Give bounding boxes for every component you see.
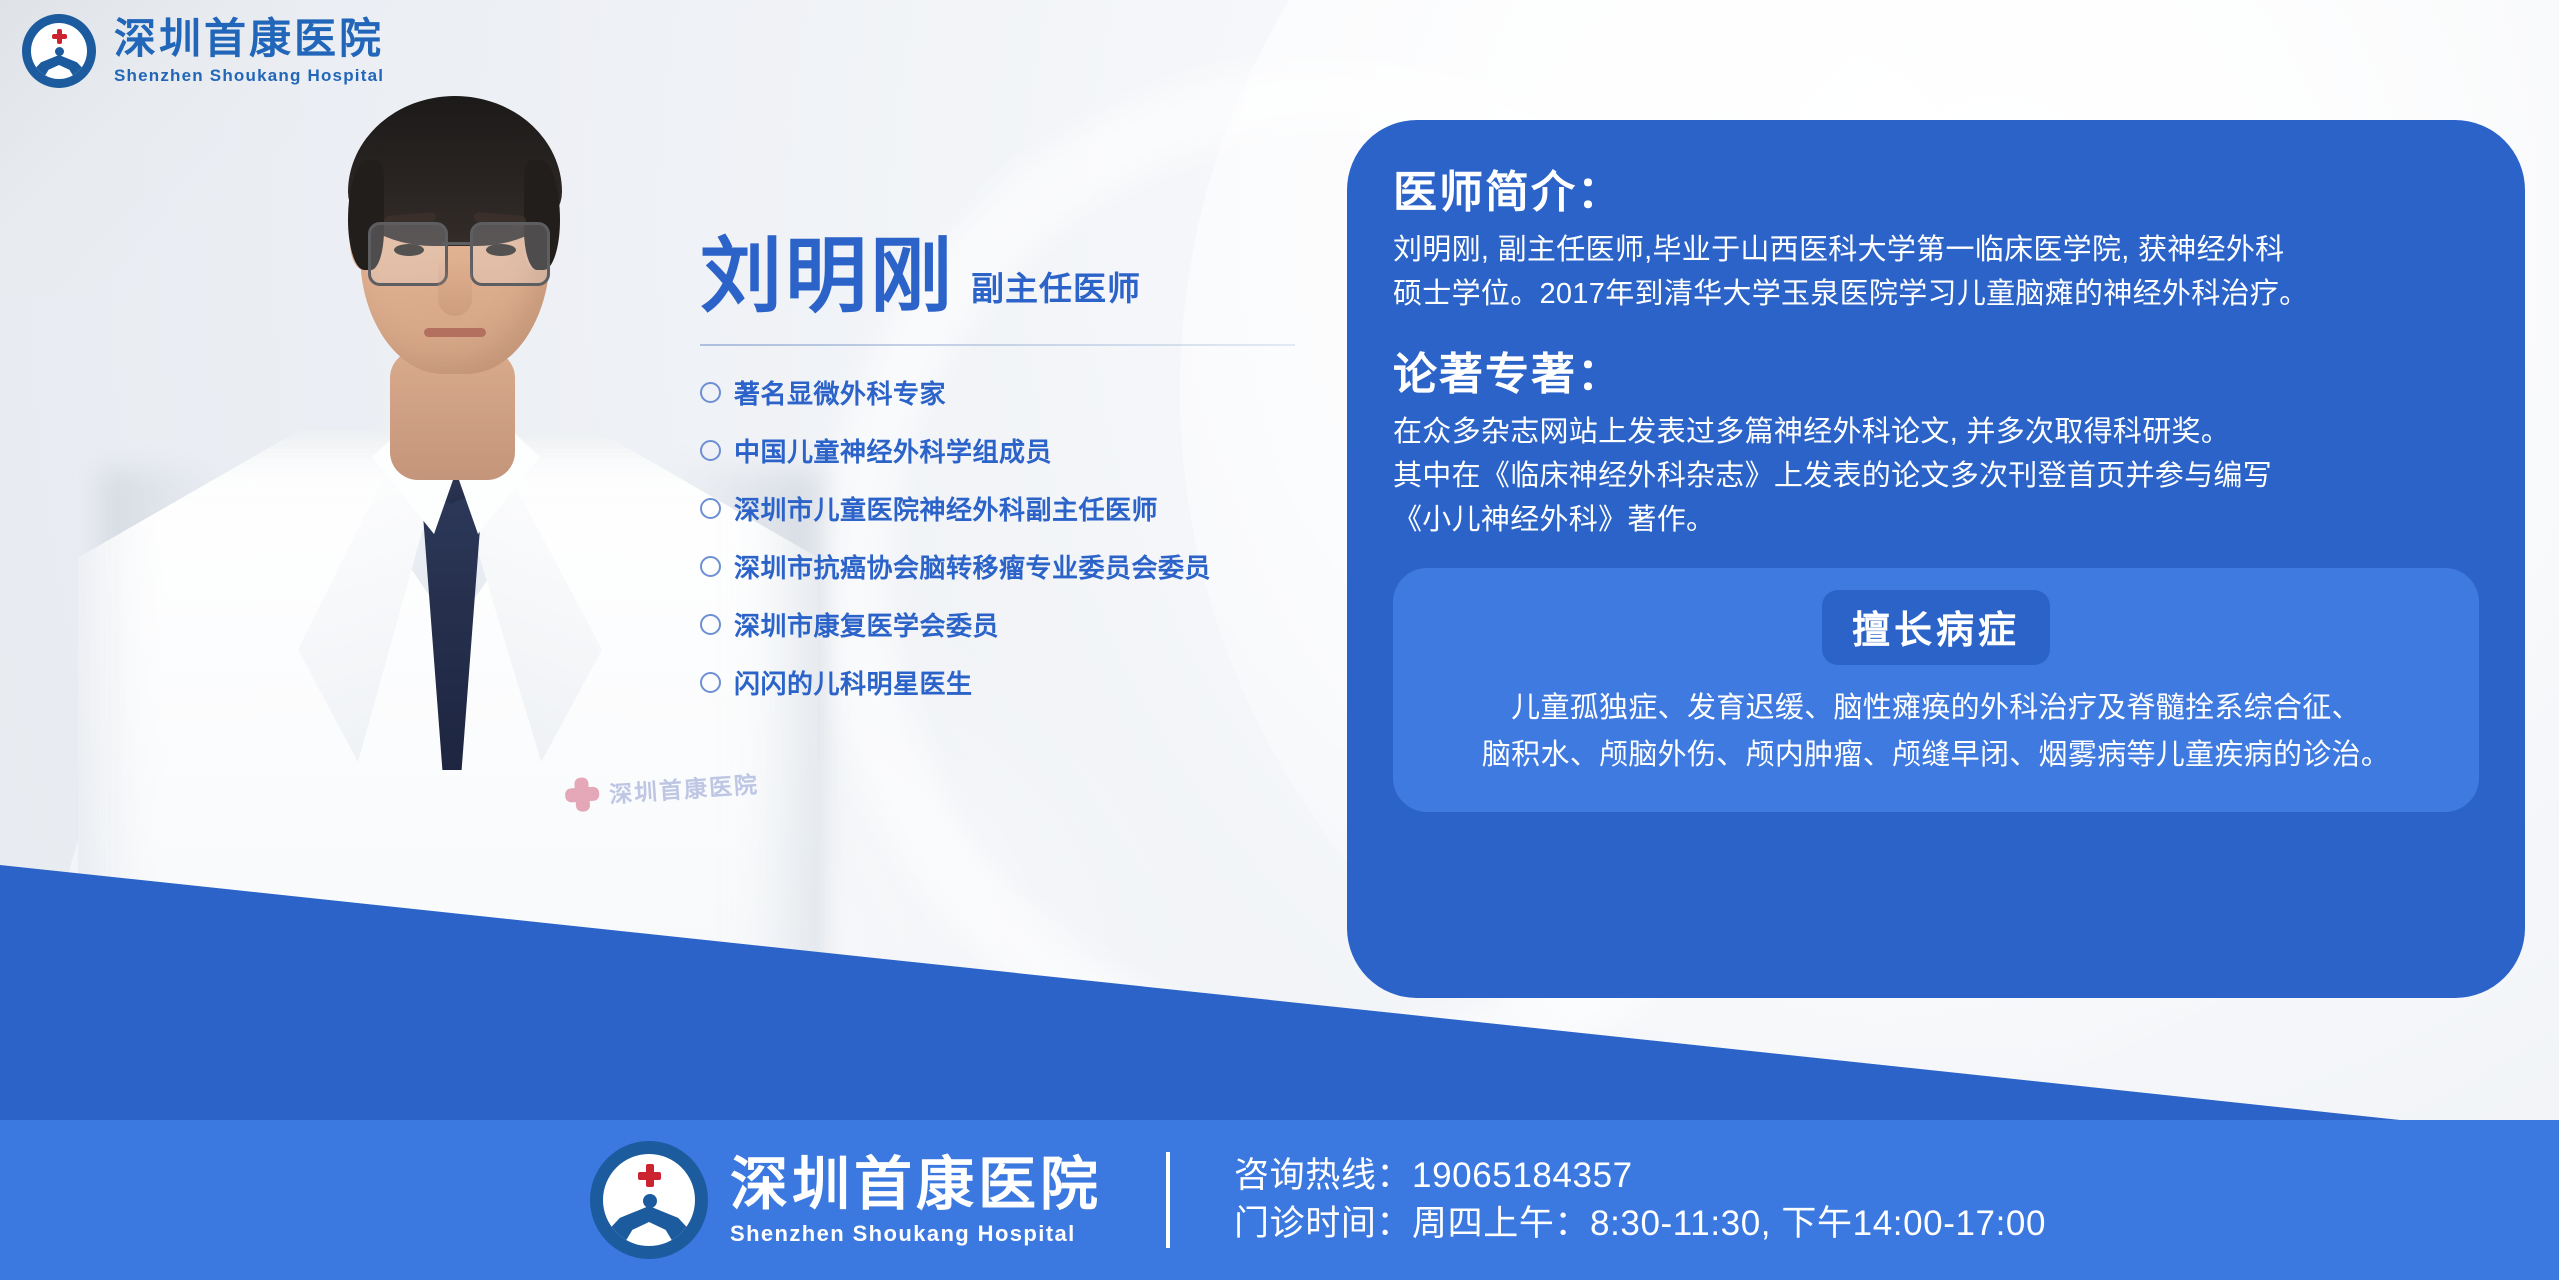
footer-divider	[1166, 1152, 1170, 1248]
circle-bullet-icon	[700, 556, 721, 577]
footer-brand-names: 深圳首康医院 Shenzhen Shoukang Hospital	[730, 1156, 1102, 1245]
doctor-detail-panel: 医师简介： 刘明刚, 副主任医师,毕业于山西医科大学第一临床医学院, 获神经外科…	[1347, 120, 2525, 998]
doctor-info-block: 刘明刚 副主任医师 著名显微外科专家 中国儿童神经外科学组成员 深圳市儿童医院神…	[700, 236, 1320, 722]
doctor-profile-poster: 深圳首康医院 深圳首康医院 Shenzhen Shoukang Hospital…	[0, 0, 2559, 1280]
credential-label: 深圳市儿童医院神经外科副主任医师	[734, 490, 1158, 527]
footer-bar: 深圳首康医院 Shenzhen Shoukang Hospital 咨询热线：1…	[0, 1120, 2559, 1280]
circle-bullet-icon	[700, 672, 721, 693]
works-heading: 论著专著：	[1393, 338, 2479, 402]
hotline-text: 咨询热线：19065184357	[1234, 1152, 2046, 1200]
works-paragraph: 在众多杂志网站上发表过多篇神经外科论文, 并多次取得科研奖。 其中在《临床神经外…	[1393, 410, 2479, 542]
clinic-hours-text: 门诊时间：周四上午：8:30-11:30, 下午14:00-17:00	[1234, 1200, 2046, 1248]
list-item: 中国儿童神经外科学组成员	[700, 432, 1320, 469]
header-hospital-name-cn: 深圳首康医院	[114, 18, 384, 60]
intro-line: 刘明刚, 副主任医师,毕业于山西医科大学第一临床医学院, 获神经外科	[1393, 234, 2285, 266]
crest-inner	[31, 23, 87, 79]
footer-hospital-name-cn: 深圳首康医院	[730, 1156, 1102, 1214]
specialty-line: 儿童孤独症、发育迟缓、脑性瘫痪的外科治疗及脊髓拴系综合征、	[1511, 692, 2361, 724]
mouth	[424, 328, 486, 337]
intro-line: 硕士学位。2017年到清华大学玉泉医院学习儿童脑瘫的神经外科治疗。	[1393, 278, 2308, 310]
works-line: 其中在《临床神经外科杂志》上发表的论文多次刊登首页并参与编写	[1393, 460, 2272, 492]
footer-brand: 深圳首康医院 Shenzhen Shoukang Hospital	[590, 1141, 1102, 1259]
status-badge: 擅长病症	[1822, 590, 2050, 665]
credential-label: 深圳市康复医学会委员	[734, 606, 999, 643]
specialty-box: 擅长病症 儿童孤独症、发育迟缓、脑性瘫痪的外科治疗及脊髓拴系综合征、 脑积水、颅…	[1393, 568, 2479, 812]
crest-dot	[55, 47, 64, 56]
list-item: 著名显微外科专家	[700, 374, 1320, 411]
crest-dot	[643, 1194, 657, 1208]
circle-bullet-icon	[700, 440, 721, 461]
doctor-title: 副主任医师	[971, 262, 1141, 318]
circle-bullet-icon	[700, 382, 721, 403]
credential-label: 深圳市抗癌协会脑转移瘤专业委员会委员	[734, 548, 1211, 585]
red-cross-icon	[638, 1164, 661, 1187]
list-item: 闪闪的儿科明星医生	[700, 664, 1320, 701]
credential-label: 著名显微外科专家	[734, 374, 946, 411]
intro-paragraph: 刘明刚, 副主任医师,毕业于山西医科大学第一临床医学院, 获神经外科 硕士学位。…	[1393, 228, 2479, 316]
crest-arc	[603, 1206, 695, 1246]
nose	[438, 258, 472, 316]
list-item: 深圳市抗癌协会脑转移瘤专业委员会委员	[700, 548, 1320, 585]
specialty-line: 脑积水、颅脑外伤、颅内肿瘤、颅缝早闭、烟雾病等儿童疾病的诊治。	[1482, 739, 2390, 771]
header-brand: 深圳首康医院 Shenzhen Shoukang Hospital	[22, 14, 384, 88]
crest-arc	[31, 55, 87, 79]
doctor-name-row: 刘明刚 副主任医师	[700, 236, 1320, 318]
lens-right	[470, 222, 550, 286]
medical-cross-icon	[564, 776, 600, 812]
circle-bullet-icon	[700, 498, 721, 519]
footer-hospital-name-en: Shenzhen Shoukang Hospital	[730, 1223, 1102, 1245]
list-item: 深圳市康复医学会委员	[700, 606, 1320, 643]
specialty-text: 儿童孤独症、发育迟缓、脑性瘫痪的外科治疗及脊髓拴系综合征、 脑积水、颅脑外伤、颅…	[1429, 685, 2443, 778]
intro-heading: 医师简介：	[1393, 156, 2479, 220]
works-line: 在众多杂志网站上发表过多篇神经外科论文, 并多次取得科研奖。	[1393, 416, 2230, 448]
credential-label: 中国儿童神经外科学组成员	[734, 432, 1052, 469]
glasses-bridge	[442, 242, 470, 245]
credentials-list: 著名显微外科专家 中国儿童神经外科学组成员 深圳市儿童医院神经外科副主任医师 深…	[700, 374, 1320, 701]
red-cross-icon	[52, 29, 67, 44]
hospital-crest-icon	[22, 14, 96, 88]
footer-contact-info: 咨询热线：19065184357 门诊时间：周四上午：8:30-11:30, 下…	[1234, 1152, 2046, 1249]
circle-bullet-icon	[700, 614, 721, 635]
doctor-name: 刘明刚	[700, 236, 955, 318]
header-brand-names: 深圳首康医院 Shenzhen Shoukang Hospital	[114, 18, 384, 84]
name-divider	[700, 344, 1295, 346]
header-hospital-name-en: Shenzhen Shoukang Hospital	[114, 67, 384, 84]
hospital-crest-icon	[590, 1141, 708, 1259]
list-item: 深圳市儿童医院神经外科副主任医师	[700, 490, 1320, 527]
credential-label: 闪闪的儿科明星医生	[734, 664, 973, 701]
crest-inner	[603, 1154, 695, 1246]
works-line: 《小儿神经外科》著作。	[1393, 504, 1715, 536]
lens-left	[368, 222, 448, 286]
